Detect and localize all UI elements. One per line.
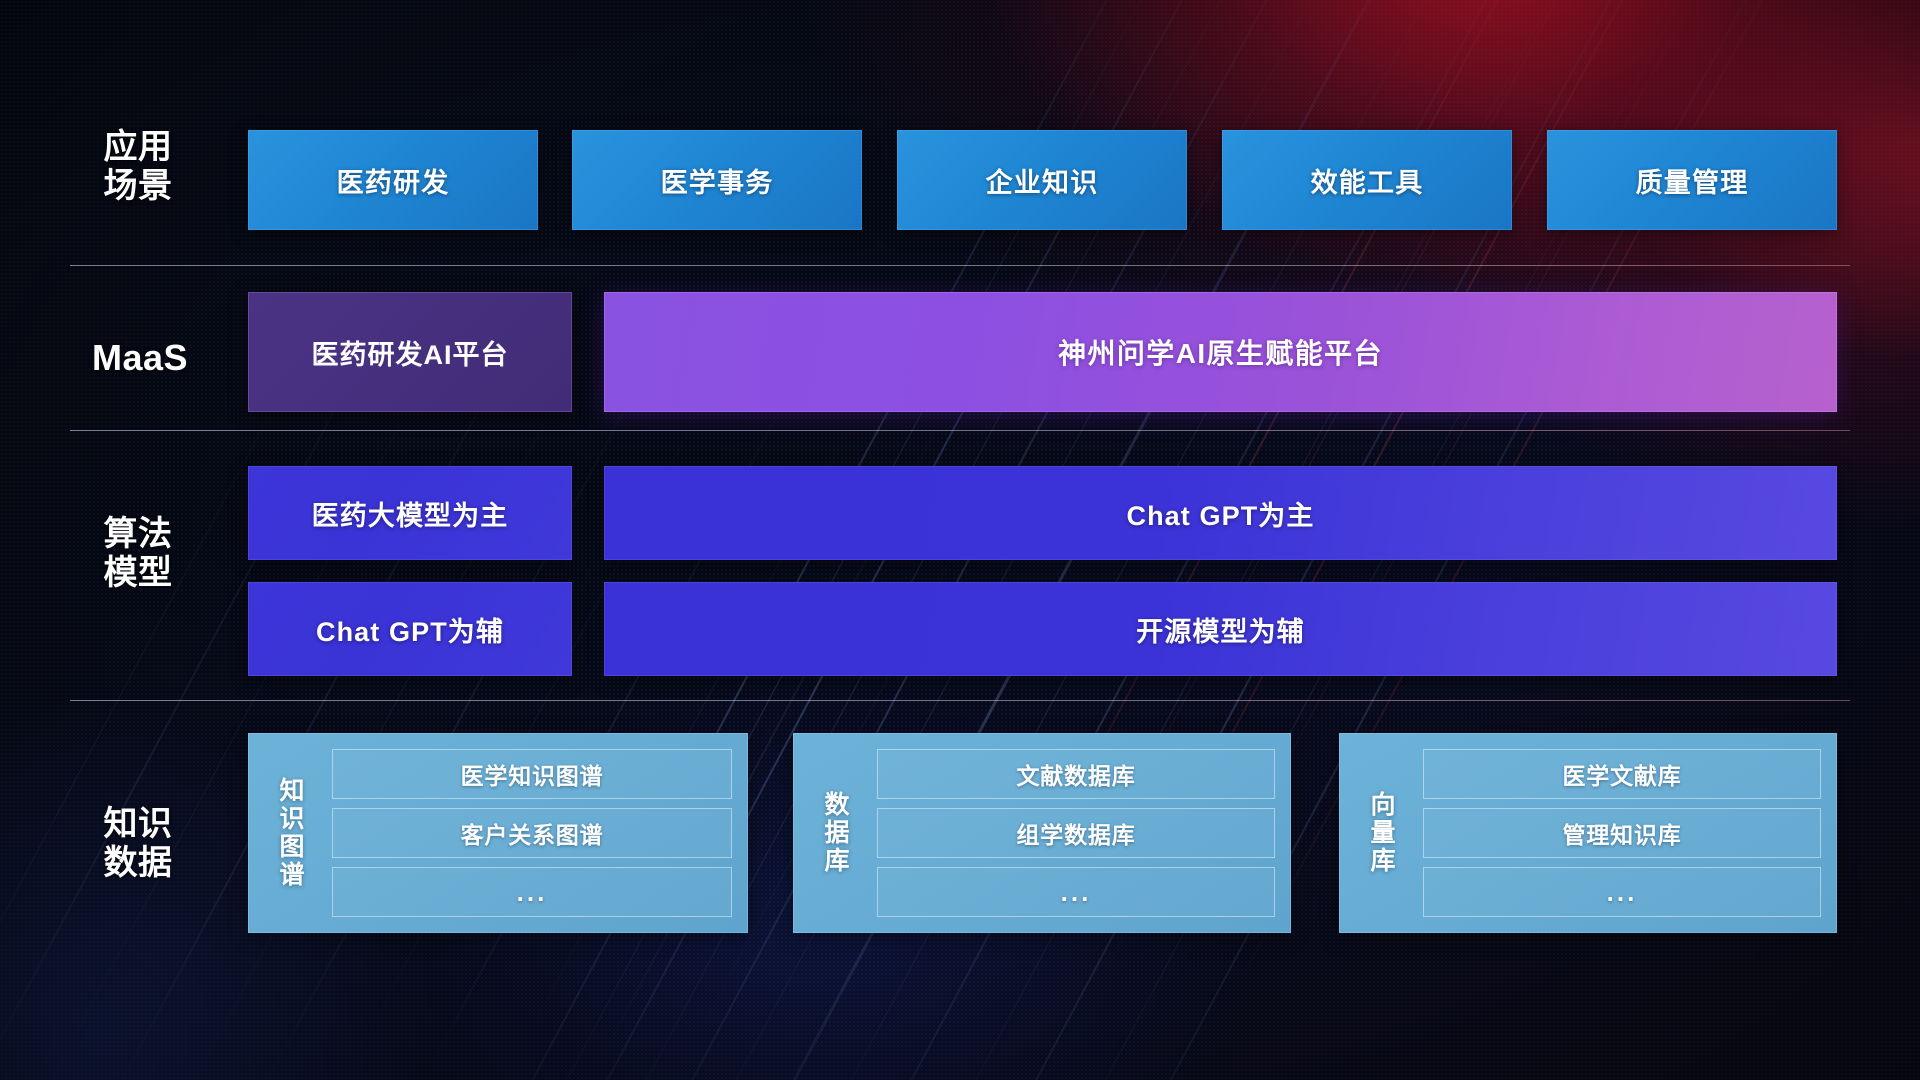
knowledge-item[interactable]: 医学文献库 xyxy=(1423,749,1821,799)
knowledge-item-label: ... xyxy=(1607,877,1638,908)
app-box-medicine-rnd[interactable]: 医药研发 xyxy=(248,130,538,230)
architecture-diagram: 应用 场景 医药研发 医学事务 企业知识 效能工具 质量管理 MaaS 医药研发… xyxy=(0,0,1920,1080)
knowledge-item[interactable]: 医学知识图谱 xyxy=(332,749,732,799)
knowledge-item-more[interactable]: ... xyxy=(1423,867,1821,917)
knowledge-panel-vertical-label: 数据库 xyxy=(809,791,865,875)
knowledge-panel-database[interactable]: 数据库 文献数据库 组学数据库 ... xyxy=(793,733,1291,933)
divider-maas xyxy=(70,430,1850,431)
maas-right-box[interactable]: 神州问学AI原生赋能平台 xyxy=(604,292,1837,412)
algo-box-opensource-secondary[interactable]: 开源模型为辅 xyxy=(604,582,1837,676)
knowledge-panel-vector-store[interactable]: 向量库 医学文献库 管理知识库 ... xyxy=(1339,733,1837,933)
algo-box-label: 医药大模型为主 xyxy=(312,494,509,533)
divider-algorithm xyxy=(70,700,1850,701)
knowledge-item-more[interactable]: ... xyxy=(877,867,1275,917)
knowledge-item-more[interactable]: ... xyxy=(332,867,732,917)
app-box-label: 医学事务 xyxy=(661,161,774,200)
app-box-efficiency-tools[interactable]: 效能工具 xyxy=(1222,130,1512,230)
divider-top xyxy=(70,265,1850,266)
knowledge-item-label: 组学数据库 xyxy=(1017,816,1136,850)
algo-box-chatgpt-primary[interactable]: Chat GPT为主 xyxy=(604,466,1837,560)
knowledge-panel-items: 医学文献库 管理知识库 ... xyxy=(1411,749,1821,917)
knowledge-item-label: 客户关系图谱 xyxy=(461,816,604,850)
knowledge-item-label: ... xyxy=(517,877,548,908)
knowledge-panel-vertical-label: 向量库 xyxy=(1355,791,1411,875)
knowledge-data-row: 知识图谱 医学知识图谱 客户关系图谱 ... 数据库 文献数据库 组学数据库 .… xyxy=(0,733,1920,933)
application-scenarios-row: 医药研发 医学事务 企业知识 效能工具 质量管理 xyxy=(0,130,1920,230)
knowledge-item-label: 医学文献库 xyxy=(1563,757,1682,791)
knowledge-item-label: 管理知识库 xyxy=(1563,816,1682,850)
knowledge-item-label: 医学知识图谱 xyxy=(461,757,604,791)
maas-left-box[interactable]: 医药研发AI平台 xyxy=(248,292,572,412)
knowledge-item-label: ... xyxy=(1061,877,1092,908)
knowledge-item[interactable]: 文献数据库 xyxy=(877,749,1275,799)
app-box-label: 企业知识 xyxy=(986,161,1099,200)
app-box-label: 医药研发 xyxy=(337,161,450,200)
knowledge-panel-vertical-label: 知识图谱 xyxy=(264,777,320,889)
app-box-quality-management[interactable]: 质量管理 xyxy=(1547,130,1837,230)
knowledge-item-label: 文献数据库 xyxy=(1017,757,1136,791)
app-box-label: 效能工具 xyxy=(1311,161,1424,200)
algo-box-label: Chat GPT为主 xyxy=(1126,494,1314,533)
app-box-enterprise-knowledge[interactable]: 企业知识 xyxy=(897,130,1187,230)
algo-box-label: 开源模型为辅 xyxy=(1136,610,1305,649)
knowledge-item[interactable]: 组学数据库 xyxy=(877,808,1275,858)
maas-left-label: 医药研发AI平台 xyxy=(312,333,509,372)
knowledge-panel-items: 文献数据库 组学数据库 ... xyxy=(865,749,1275,917)
algorithm-model-row: 医药大模型为主 Chat GPT为主 Chat GPT为辅 开源模型为辅 xyxy=(0,466,1920,676)
maas-right-label: 神州问学AI原生赋能平台 xyxy=(1058,332,1383,372)
maas-row: 医药研发AI平台 神州问学AI原生赋能平台 xyxy=(0,292,1920,412)
algo-box-label: Chat GPT为辅 xyxy=(316,610,504,649)
knowledge-panel-knowledge-graph[interactable]: 知识图谱 医学知识图谱 客户关系图谱 ... xyxy=(248,733,748,933)
knowledge-item[interactable]: 客户关系图谱 xyxy=(332,808,732,858)
app-box-medical-affairs[interactable]: 医学事务 xyxy=(572,130,862,230)
algo-box-chatgpt-secondary[interactable]: Chat GPT为辅 xyxy=(248,582,572,676)
knowledge-panel-items: 医学知识图谱 客户关系图谱 ... xyxy=(320,749,732,917)
knowledge-item[interactable]: 管理知识库 xyxy=(1423,808,1821,858)
app-box-label: 质量管理 xyxy=(1636,161,1749,200)
algo-box-medicine-llm-primary[interactable]: 医药大模型为主 xyxy=(248,466,572,560)
